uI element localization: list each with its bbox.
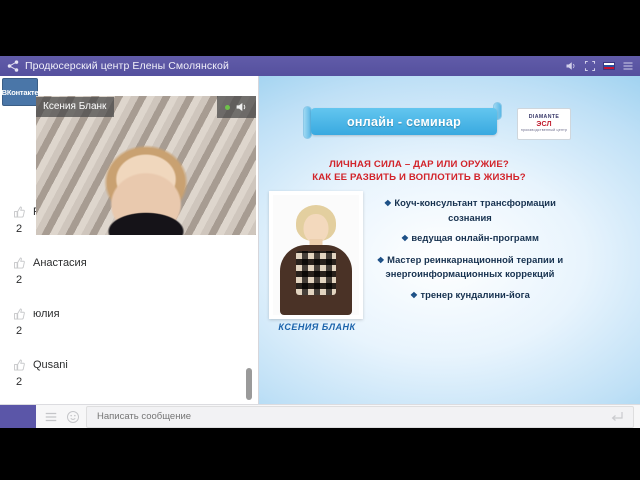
vkontakte-logo: ВКонтакте xyxy=(2,78,38,106)
window-title: Продюсерский центр Елены Смолянской xyxy=(25,60,229,72)
bullet-item: ❖ Коуч-консультант трансформации сознани… xyxy=(365,196,575,224)
thumbs-up-icon xyxy=(14,359,25,371)
thumbs-up-icon xyxy=(14,257,25,269)
hamburger-menu-icon[interactable] xyxy=(622,60,634,72)
composer-left-accent xyxy=(0,405,36,429)
presentation-pane[interactable]: онлайн - семинар DIAMANTE ЭСЛ производст… xyxy=(259,76,640,428)
letterbox-top xyxy=(0,0,640,56)
speaker-caption: КСЕНИЯ БЛАНК xyxy=(265,322,369,332)
logo-line-3: производственный центр xyxy=(521,129,567,133)
smiley-icon[interactable] xyxy=(66,410,80,424)
logo-line-1: DIAMANTE xyxy=(529,115,560,120)
speaker-video-shadow xyxy=(94,200,198,235)
speaker-video-tile[interactable]: Ксения Бланк xyxy=(36,96,256,235)
slide-banner: онлайн - семинар xyxy=(303,106,503,138)
chat-message-text: 2 xyxy=(16,325,248,337)
chat-scrollbar[interactable] xyxy=(246,368,252,400)
thumbs-up-icon xyxy=(14,206,25,218)
portrait-scarf xyxy=(296,251,336,295)
speaker-portrait xyxy=(269,191,363,319)
share-icon[interactable] xyxy=(6,59,20,73)
banner-label: онлайн - семинар xyxy=(347,115,461,129)
list-item[interactable]: Анастасия 2 xyxy=(0,251,258,290)
chat-message-text: 2 xyxy=(16,274,248,286)
hamburger-menu-icon[interactable] xyxy=(44,410,58,424)
volume-icon[interactable] xyxy=(565,60,577,72)
logo-line-2: ЭСЛ xyxy=(536,121,551,128)
chat-user-name: Анастасия xyxy=(33,257,87,269)
speaker-name-label: Ксения Бланк xyxy=(36,97,114,117)
bullet-marker-icon: ❖ xyxy=(401,233,409,243)
headline-line-2: КАК ЕЕ РАЗВИТЬ И ВОПЛОТИТЬ В ЖИЗНЬ? xyxy=(269,171,569,184)
live-status-dot xyxy=(225,105,230,110)
speaker-audio-controls[interactable] xyxy=(217,96,256,118)
title-bar-controls xyxy=(565,60,634,72)
content-area: Рида 2 Анастасия 2 xyxy=(0,76,640,428)
fullscreen-icon[interactable] xyxy=(584,60,596,72)
bullet-item: ❖ тренер кундалини-йога xyxy=(365,288,575,303)
bullet-marker-icon: ❖ xyxy=(384,198,392,208)
speaker-video-overlay-bar: Ксения Бланк xyxy=(36,96,256,118)
message-input[interactable] xyxy=(95,407,605,427)
list-item[interactable]: Qusani 2 xyxy=(0,353,258,392)
chat-user-name: юлия xyxy=(33,308,60,320)
headline-line-1: ЛИЧНАЯ СИЛА – ДАР ИЛИ ОРУЖИЕ? xyxy=(269,158,569,171)
title-bar: Продюсерский центр Елены Смолянской xyxy=(0,56,640,76)
chat-user-name: Qusani xyxy=(33,359,68,371)
slide-bullet-list: ❖ Коуч-консультант трансформации сознани… xyxy=(365,196,575,309)
slide: онлайн - семинар DIAMANTE ЭСЛ производст… xyxy=(259,76,640,428)
banner-body: онлайн - семинар xyxy=(311,108,497,135)
message-input-wrapper[interactable] xyxy=(86,406,634,428)
screen: Продюсерский центр Елены Смолянской xyxy=(0,0,640,480)
speaker-portrait-image xyxy=(273,195,359,315)
chat-panel: Рида 2 Анастасия 2 xyxy=(0,76,259,428)
bullet-item: ❖ Мастер реинкарнационной терапии и энер… xyxy=(365,253,575,281)
list-item[interactable]: юлия 2 xyxy=(0,302,258,341)
bullet-text: ведущая онлайн-программ xyxy=(411,232,539,243)
enter-arrow-icon[interactable] xyxy=(609,409,625,425)
speaker-icon[interactable] xyxy=(235,101,248,113)
bullet-text: тренер кундалини-йога xyxy=(420,289,529,300)
bullet-marker-icon: ❖ xyxy=(377,255,385,265)
broadcast-window: Продюсерский центр Елены Смолянской xyxy=(0,56,640,428)
thumbs-up-icon xyxy=(14,308,25,320)
message-composer xyxy=(0,404,640,428)
bullet-item: ❖ ведущая онлайн-программ xyxy=(365,231,575,246)
letterbox-bottom xyxy=(0,428,640,480)
bullet-text: Коуч-консультант трансформации сознания xyxy=(394,197,556,223)
russian-flag-icon[interactable] xyxy=(603,62,615,70)
bullet-text: Мастер реинкарнационной терапии и энерго… xyxy=(386,254,564,280)
vkontakte-logo-label: ВКонтакте xyxy=(2,88,39,97)
bullet-marker-icon: ❖ xyxy=(410,290,418,300)
chat-message-text: 2 xyxy=(16,376,248,388)
slide-headline: ЛИЧНАЯ СИЛА – ДАР ИЛИ ОРУЖИЕ? КАК ЕЕ РАЗ… xyxy=(269,158,569,184)
diamante-logo: DIAMANTE ЭСЛ производственный центр xyxy=(517,108,571,140)
